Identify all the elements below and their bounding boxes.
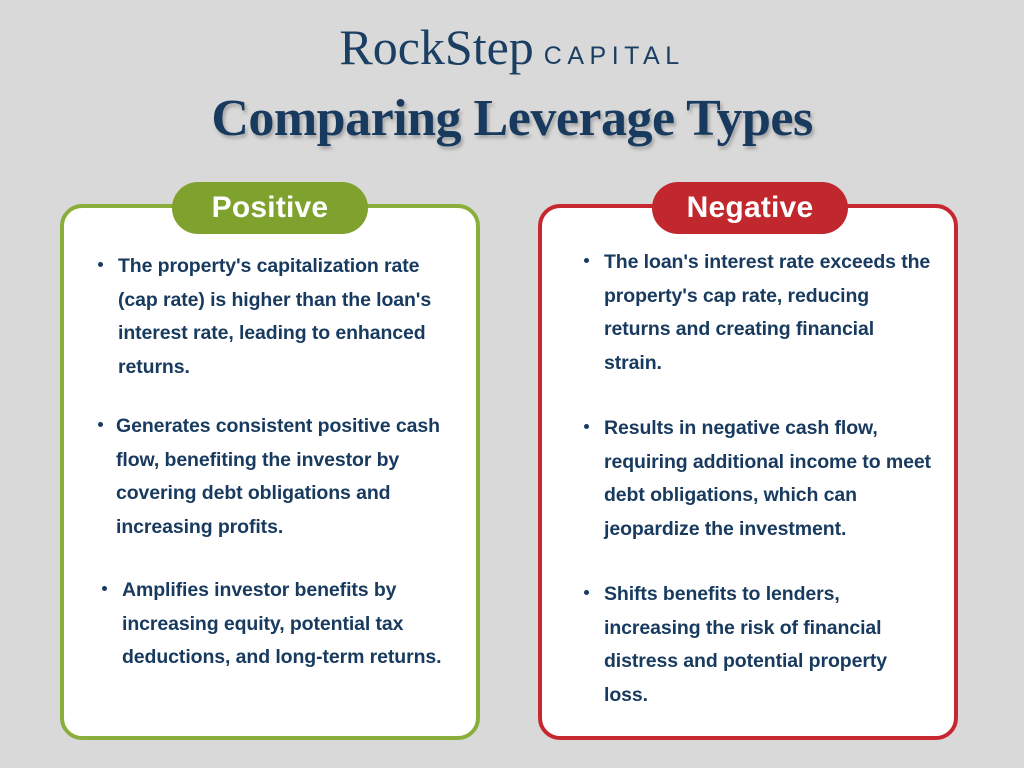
- brand-subtitle: CAPITAL: [544, 42, 685, 70]
- badge-negative: Negative: [652, 182, 848, 234]
- list-item: Amplifies investor benefits by increasin…: [88, 574, 450, 675]
- list-item: Results in negative cash flow, requiring…: [574, 412, 934, 546]
- page-title: Comparing Leverage Types: [0, 92, 1024, 147]
- card-positive: The property's capitalization rate (cap …: [60, 204, 480, 740]
- list-item: Shifts benefits to lenders, increasing t…: [574, 578, 934, 712]
- brand-logo: RockStepCAPITAL: [0, 22, 1024, 72]
- infographic-canvas: RockStepCAPITAL Comparing Leverage Types…: [0, 0, 1024, 768]
- list-item: Generates consistent positive cash flow,…: [88, 410, 450, 544]
- card-positive-body: The property's capitalization rate (cap …: [64, 208, 476, 675]
- list-item: The loan's interest rate exceeds the pro…: [574, 246, 934, 380]
- brand-name: RockStep: [339, 19, 533, 75]
- positive-bullet-list: The property's capitalization rate (cap …: [88, 250, 450, 675]
- card-negative-body: The loan's interest rate exceeds the pro…: [542, 208, 954, 712]
- badge-positive: Positive: [172, 182, 368, 234]
- list-item: The property's capitalization rate (cap …: [88, 250, 450, 384]
- negative-bullet-list: The loan's interest rate exceeds the pro…: [574, 246, 934, 712]
- card-negative: The loan's interest rate exceeds the pro…: [538, 204, 958, 740]
